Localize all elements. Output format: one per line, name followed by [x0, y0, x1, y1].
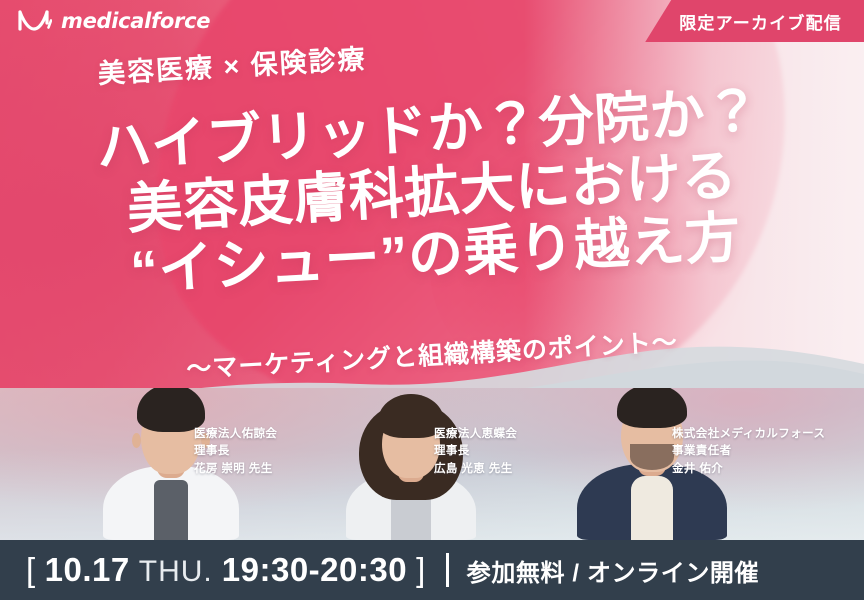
bracket-close: ] — [416, 551, 426, 589]
speaker-2-name: 広島 光恵 先生 — [434, 461, 517, 477]
webinar-banner: medicalforce 限定アーカイブ配信 美容医療 × 保険診療 ハイブリッ… — [0, 0, 864, 600]
archive-badge: 限定アーカイブ配信 — [645, 0, 864, 42]
archive-badge-label: 限定アーカイブ配信 — [679, 9, 842, 34]
speaker-1-role: 理事長 — [194, 443, 277, 459]
brand-logo-text: medicalforce — [61, 9, 210, 33]
event-date: 10.17 — [45, 551, 130, 589]
event-time: 19:30-20:30 — [222, 551, 407, 589]
speaker-3-role: 事業責任者 — [672, 443, 825, 459]
speaker-credit-1: 医療法人佑諒会 理事長 花房 崇明 先生 — [194, 426, 277, 478]
speaker-3-org: 株式会社メディカルフォース — [672, 426, 825, 442]
speaker-1-name: 花房 崇明 先生 — [194, 461, 277, 477]
speaker-2-role: 理事長 — [434, 443, 517, 459]
speaker-credit-3: 株式会社メディカルフォース 事業責任者 金井 佑介 — [672, 426, 825, 478]
medicalforce-m-mark-icon — [18, 9, 52, 33]
event-meta: 参加無料 / オンライン開催 — [467, 553, 759, 588]
event-day-of-week: THU. — [139, 555, 213, 589]
event-datetime: [ 10.17 THU. 19:30-20:30 ] — [26, 551, 426, 589]
speaker-credit-2: 医療法人恵蝶会 理事長 広島 光恵 先生 — [434, 426, 517, 478]
bracket-open: [ — [26, 551, 36, 589]
brand-logo[interactable]: medicalforce — [18, 9, 210, 33]
speaker-2-org: 医療法人恵蝶会 — [434, 426, 517, 442]
speaker-3-name: 金井 佑介 — [672, 461, 825, 477]
event-footer-bar: [ 10.17 THU. 19:30-20:30 ] 参加無料 / オンライン開… — [0, 540, 864, 600]
speaker-1-org: 医療法人佑諒会 — [194, 426, 277, 442]
footer-divider — [446, 553, 449, 587]
